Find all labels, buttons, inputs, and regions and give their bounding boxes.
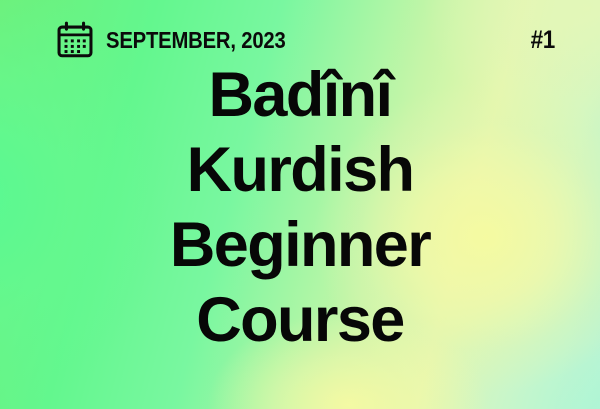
page-title-line: Beginner	[0, 208, 600, 283]
issue-date-label: SEPTEMBER, 2023	[106, 27, 286, 54]
page-title-line: Course	[0, 283, 600, 358]
calendar-icon	[56, 21, 94, 59]
date-group: SEPTEMBER, 2023	[56, 21, 310, 59]
issue-number-badge: #1	[531, 26, 555, 55]
page-title: Badînî Kurdish Beginner Course	[0, 58, 600, 358]
course-promo-card: SEPTEMBER, 2023 #1 Badînî Kurdish Beginn…	[0, 0, 600, 409]
page-title-line: Kurdish	[0, 133, 600, 208]
card-content: SEPTEMBER, 2023 #1 Badînî Kurdish Beginn…	[0, 0, 600, 409]
header-row: SEPTEMBER, 2023 #1	[56, 19, 555, 61]
page-title-line: Badînî	[0, 58, 600, 133]
